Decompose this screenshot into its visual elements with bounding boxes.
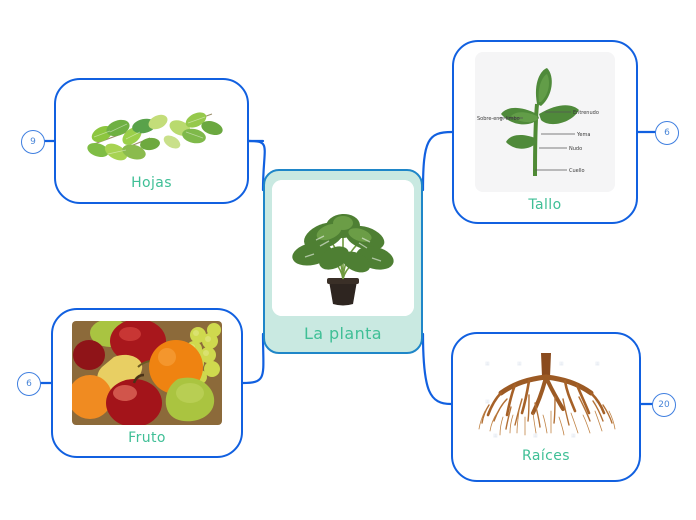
mindmap-canvas: La planta [0, 0, 696, 520]
badge-raices[interactable]: 20 [652, 393, 676, 417]
svg-text:Nudo: Nudo [569, 146, 582, 152]
connector-fruto-central [243, 334, 263, 383]
branch-node-hojas[interactable]: Hojas [54, 78, 249, 204]
svg-text:Yema: Yema [576, 132, 590, 138]
fruto-label: Fruto [128, 430, 166, 446]
tallo-image: Entrenudo Yema Nudo Cuello Sobre-eng. li… [475, 52, 615, 192]
connector-tallo-central [423, 132, 452, 190]
branch-node-tallo[interactable]: Entrenudo Yema Nudo Cuello Sobre-eng. li… [452, 40, 638, 224]
central-node[interactable]: La planta [263, 169, 423, 354]
branch-node-raices[interactable]: ▦▦ ▦▦ ▦▦ ▦▦▦ [451, 332, 641, 482]
fruto-image [72, 321, 222, 425]
svg-text:▦: ▦ [559, 361, 564, 367]
badge-tallo[interactable]: 6 [655, 121, 679, 145]
hojas-image [72, 92, 232, 170]
raices-image: ▦▦ ▦▦ ▦▦ ▦▦▦ [467, 351, 625, 443]
central-node-image [272, 180, 414, 316]
svg-text:▦: ▦ [533, 433, 538, 439]
raices-label: Raíces [522, 448, 570, 464]
svg-text:▦: ▦ [485, 399, 490, 405]
svg-text:▦: ▦ [595, 361, 600, 367]
tallo-label: Tallo [528, 197, 561, 213]
svg-text:Sobre-eng. limbo: Sobre-eng. limbo [477, 116, 520, 122]
central-node-label: La planta [304, 324, 382, 343]
svg-text:Cuello: Cuello [569, 168, 585, 174]
connector-raices-central [423, 334, 451, 404]
svg-text:▦: ▦ [485, 361, 490, 367]
hojas-label: Hojas [131, 175, 172, 191]
svg-text:▦: ▦ [493, 433, 498, 439]
svg-text:▦: ▦ [571, 433, 576, 439]
badge-hojas[interactable]: 9 [21, 130, 45, 154]
branch-node-fruto[interactable]: Fruto [51, 308, 243, 458]
svg-text:▦: ▦ [517, 361, 522, 367]
badge-fruto[interactable]: 6 [17, 372, 41, 396]
svg-text:Entrenudo: Entrenudo [573, 110, 599, 116]
